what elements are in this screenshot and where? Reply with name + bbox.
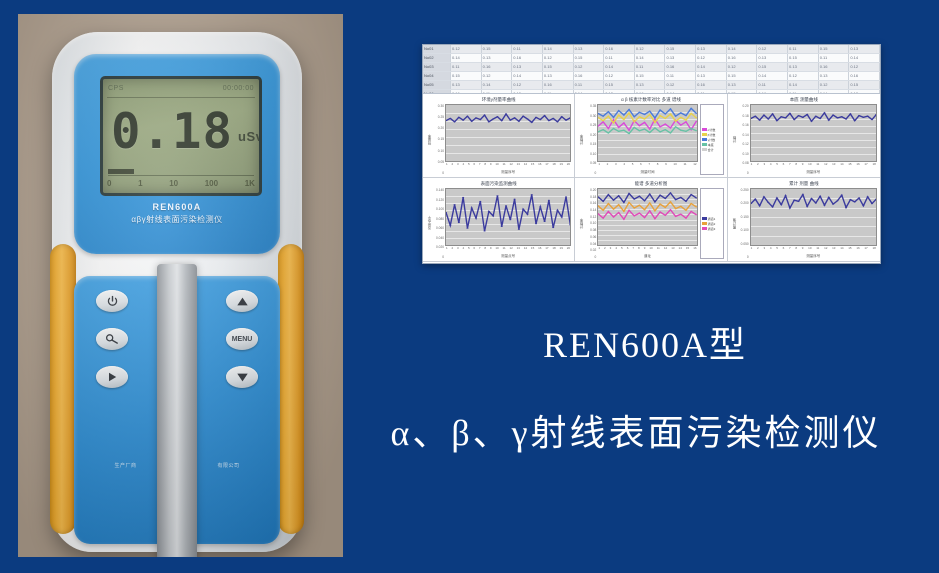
chart-x-ticks: 123456789101112131415161718 xyxy=(750,162,877,169)
chart-data-point xyxy=(644,209,646,210)
chart-data-point xyxy=(639,130,641,131)
chart-y-tick: 0.10 xyxy=(584,152,596,156)
chart-data-point xyxy=(665,113,667,114)
chart-data-point xyxy=(608,116,610,117)
table-cell: 0.16 xyxy=(819,63,850,71)
table-row[interactable]: No020.140.130.160.120.150.110.140.130.12… xyxy=(423,54,880,63)
chart-data-point xyxy=(613,122,615,123)
table-cell: 0.12 xyxy=(696,54,727,62)
chart-plot-area xyxy=(445,188,571,246)
chart-data-point xyxy=(649,129,651,130)
table-cell: 0.12 xyxy=(604,72,635,80)
software-screenshot: No010.120.150.110.140.130.160.120.150.13… xyxy=(422,44,881,264)
menu-button[interactable]: MENU xyxy=(226,328,258,350)
chart-x-tick: 20 xyxy=(567,246,570,253)
chart-data-point xyxy=(771,206,773,207)
up-button[interactable] xyxy=(226,290,258,312)
chart-y-tick: 0 xyxy=(584,171,596,175)
chart-series-line xyxy=(446,195,570,231)
chart-y-axis-label: 累计值 xyxy=(731,188,737,259)
chart-data-point xyxy=(784,195,786,196)
chart-y-tick: 0.050 xyxy=(737,242,749,246)
chart-data-point xyxy=(644,217,646,218)
chart-title: 本底 测量曲线 xyxy=(731,96,877,104)
product-title-line2: α、β、γ射线表面污染检测仪 xyxy=(336,404,936,456)
chart-x-ticks: 123456789101112131415161718 xyxy=(750,246,877,253)
chart-x-tick: 7 xyxy=(632,246,634,253)
chart-y-tick: 0 xyxy=(737,171,749,175)
chart-x-tick: 5 xyxy=(621,246,623,253)
chart-data-point xyxy=(670,108,672,109)
chart-y-tick: 0.060 xyxy=(432,226,444,230)
chart-x-tick: 9 xyxy=(802,246,804,253)
chart-x-tick: 9 xyxy=(644,246,646,253)
chart-data-point xyxy=(771,113,773,114)
chart-data-point xyxy=(608,111,610,112)
chart-y-tick: 0.10 xyxy=(584,221,596,225)
table-cell: 0.13 xyxy=(665,54,696,62)
chart-panel[interactable]: 本底 测量曲线计数0.200.180.160.140.120.100.08012… xyxy=(728,94,880,178)
chart-x-tick: 1 xyxy=(598,162,600,169)
chart-y-tick: 0.10 xyxy=(737,152,749,156)
chart-x-tick: 7 xyxy=(789,162,791,169)
chart-data-point xyxy=(819,118,821,119)
legend-item[interactable]: α计数 xyxy=(702,128,722,132)
chart-series-line xyxy=(598,193,696,203)
lcd-scale-tick: 1 xyxy=(138,179,142,191)
chart-plot-area xyxy=(750,188,877,246)
table-cell: 0.14 xyxy=(696,63,727,71)
chart-data-point xyxy=(845,118,847,119)
chart-x-ticks: 1234567891011121314151617181920 xyxy=(445,162,571,169)
chart-series-line xyxy=(598,202,696,212)
chart-plot-area xyxy=(750,104,877,162)
chart-data-point xyxy=(754,199,756,200)
chart-x-tick: 5 xyxy=(776,162,778,169)
chart-data-point xyxy=(644,129,646,130)
product-photo: CPS 00:00:00 0.18 uSv/h 01101001K xyxy=(18,14,343,557)
chart-x-tick: 18 xyxy=(872,246,875,253)
chart-data-point xyxy=(613,117,615,118)
chart-data-point xyxy=(810,198,812,199)
chart-x-tick: 18 xyxy=(872,162,875,169)
chart-x-tick: 4 xyxy=(462,162,464,169)
chart-y-tick: 0.18 xyxy=(737,114,749,118)
chart-y-tick: 0.05 xyxy=(432,160,444,164)
chart-data-point xyxy=(654,127,656,128)
table-row-label: No01 xyxy=(423,45,451,53)
chart-x-tick: 13 xyxy=(671,246,674,253)
chart-x-tick: 1 xyxy=(446,246,448,253)
chart-data-point xyxy=(675,121,677,122)
device-footer-left: 生产厂商 xyxy=(114,462,136,469)
chart-data-point xyxy=(775,120,777,121)
chart-data-point xyxy=(691,108,693,109)
chart-data-point xyxy=(823,112,825,113)
chart-data-point xyxy=(832,204,834,205)
chart-data-point xyxy=(691,128,693,129)
power-icon xyxy=(106,295,119,308)
menu-button-label: MENU xyxy=(232,336,253,343)
chart-y-tick: 0.16 xyxy=(584,201,596,205)
table-cell: 0.15 xyxy=(665,45,696,53)
table-cell: 0.14 xyxy=(727,45,758,53)
chart-data-point xyxy=(608,132,610,133)
chart-panel-grid: 环境γ剂量率曲线剂量率0.300.250.200.150.100.0501234… xyxy=(423,94,880,262)
chart-legend: α计数β计数γ计数本底合计 xyxy=(700,104,724,175)
chart-data-point xyxy=(479,119,481,120)
chart-plot-area xyxy=(445,104,571,162)
chart-data-point xyxy=(522,116,524,117)
chart-data-point xyxy=(849,113,851,114)
chart-data-point xyxy=(466,228,468,229)
chart-x-tick: 4 xyxy=(462,246,464,253)
chart-data-point xyxy=(613,200,615,201)
chart-x-tick: 8 xyxy=(795,246,797,253)
triangle-up-icon xyxy=(236,296,249,307)
table-cell: 0.12 xyxy=(543,54,574,62)
chart-data-point xyxy=(767,118,769,119)
chart-data-point xyxy=(680,214,682,215)
chart-data-point xyxy=(644,200,646,201)
table-cell: 0.13 xyxy=(512,63,543,71)
chart-x-tick: 5 xyxy=(632,162,634,169)
chart-data-point xyxy=(660,204,662,205)
legend-item[interactable]: γ计数 xyxy=(702,138,722,142)
chart-x-tick: 10 xyxy=(673,162,676,169)
chart-data-point xyxy=(814,116,816,117)
chart-data-point xyxy=(793,200,795,201)
play-button[interactable] xyxy=(96,366,128,388)
chart-panel[interactable]: α β 核素计数率对比 多道 谱线计数率0.350.300.250.200.15… xyxy=(575,94,727,178)
chart-x-tick: 18 xyxy=(552,162,555,169)
table-cell: 0.12 xyxy=(512,81,543,89)
chart-x-tick: 15 xyxy=(531,246,534,253)
lcd-scale-tick: 100 xyxy=(205,179,218,191)
chart-y-tick: 0.08 xyxy=(737,161,749,165)
chart-x-tick: 15 xyxy=(686,246,689,253)
legend-swatch xyxy=(702,227,707,230)
chart-data-point xyxy=(665,124,667,125)
chart-x-tick: 1 xyxy=(598,246,600,253)
device-model-label: REN600A xyxy=(74,202,280,212)
chart-y-tick: 0.25 xyxy=(584,123,596,127)
chart-data-point xyxy=(471,121,473,122)
chart-x-ticks: 123456789101112 xyxy=(597,162,697,169)
table-cell: 0.15 xyxy=(604,81,635,89)
chart-data-point xyxy=(623,119,625,120)
chart-x-tick: 7 xyxy=(789,246,791,253)
table-cell: 0.13 xyxy=(696,45,727,53)
chart-x-tick: 3 xyxy=(763,162,765,169)
chart-y-tick: 0.25 xyxy=(432,115,444,119)
table-cell: 0.13 xyxy=(727,81,758,89)
chart-x-tick: 8 xyxy=(657,162,659,169)
chart-x-tick: 2 xyxy=(451,246,453,253)
slide-background: CPS 00:00:00 0.18 uSv/h 01101001K xyxy=(0,0,939,573)
table-row[interactable]: No040.150.120.140.130.160.120.150.110.13… xyxy=(423,72,880,81)
lcd-reading: 0.18 uSv/h xyxy=(111,101,253,161)
chart-data-point xyxy=(513,199,515,200)
legend-item[interactable]: 通道3 xyxy=(702,227,722,231)
chart-x-tick: 11 xyxy=(816,246,819,253)
table-cell: 0.14 xyxy=(512,72,543,80)
legend-item[interactable]: 合计 xyxy=(702,148,722,152)
chart-x-tick: 11 xyxy=(657,246,660,253)
chart-data-point xyxy=(649,202,651,203)
legend-swatch xyxy=(702,143,707,146)
table-cell: 0.12 xyxy=(727,63,758,71)
chart-data-point xyxy=(871,203,873,204)
chart-data-point xyxy=(565,196,567,197)
chart-x-tick: 8 xyxy=(638,246,640,253)
chart-data-point xyxy=(670,132,672,133)
table-cell: 0.12 xyxy=(819,81,850,89)
chart-data-point xyxy=(526,118,528,119)
chart-y-axis-label: 计数率 xyxy=(578,188,584,259)
table-row-label: No03 xyxy=(423,63,451,71)
chart-y-tick: 0.12 xyxy=(737,142,749,146)
chart-data-point xyxy=(513,117,515,118)
search-button[interactable] xyxy=(96,328,128,350)
table-row[interactable]: No030.110.160.130.150.120.140.110.160.14… xyxy=(423,63,880,72)
chart-x-tick: 11 xyxy=(816,162,819,169)
chart-data-point xyxy=(501,226,503,227)
chart-x-tick: 2 xyxy=(757,246,759,253)
table-cell: 0.16 xyxy=(696,81,727,89)
chart-data-point xyxy=(810,121,812,122)
chart-x-axis-label: 测量序号 xyxy=(750,169,877,175)
table-cell: 0.15 xyxy=(819,45,850,53)
chart-y-ticks: 0.200.180.160.140.120.100.080.060.040.02… xyxy=(584,188,597,259)
triangle-down-icon xyxy=(236,372,249,383)
chart-data-point xyxy=(649,210,651,211)
power-button[interactable] xyxy=(96,290,128,312)
chart-data-point xyxy=(660,195,662,196)
chart-data-point xyxy=(531,194,533,195)
chart-data-point xyxy=(871,119,873,120)
chart-x-tick: 4 xyxy=(615,246,617,253)
chart-x-tick: 14 xyxy=(679,246,682,253)
legend-swatch xyxy=(702,133,707,136)
chart-data-point xyxy=(654,117,656,118)
chart-x-tick: 3 xyxy=(763,246,765,253)
chart-data-point xyxy=(613,216,615,217)
chart-data-point xyxy=(665,198,667,199)
chart-data-point xyxy=(762,115,764,116)
table-cell: 0.11 xyxy=(788,45,819,53)
chart-x-tick: 18 xyxy=(552,246,555,253)
chart-panel[interactable]: 累计 剂量 曲线累计值0.2500.2000.1500.1000.0500123… xyxy=(728,178,880,262)
chart-series-line xyxy=(598,210,696,220)
table-cell: 0.13 xyxy=(757,54,788,62)
chart-data-point xyxy=(613,119,615,120)
lcd-display: CPS 00:00:00 0.18 uSv/h 01101001K xyxy=(100,76,262,196)
table-cell: 0.15 xyxy=(451,72,482,80)
chart-data-point xyxy=(531,122,533,123)
legend-swatch xyxy=(702,222,707,225)
chart-x-tick: 9 xyxy=(802,162,804,169)
table-cell: 0.16 xyxy=(482,63,513,71)
chart-data-point xyxy=(862,205,864,206)
chart-data-point xyxy=(628,210,630,211)
chart-data-point xyxy=(639,205,641,206)
device-chinese-label: αβγ射线表面污染检测仪 xyxy=(74,214,280,225)
chart-data-point xyxy=(634,208,636,209)
chart-x-tick: 17 xyxy=(545,162,548,169)
chart-data-point xyxy=(784,117,786,118)
chart-y-ticks: 0.1400.1200.1000.0800.0600.0400.0200 xyxy=(432,188,445,259)
lcd-scale-tick: 10 xyxy=(169,179,178,191)
table-row[interactable]: No010.120.150.110.140.130.160.120.150.13… xyxy=(423,45,880,54)
chart-x-tick: 12 xyxy=(824,162,827,169)
table-row[interactable]: No050.130.140.120.160.110.150.130.120.16… xyxy=(423,81,880,90)
chart-data-point xyxy=(603,210,605,211)
table-cell: 0.12 xyxy=(788,72,819,80)
chart-x-tick: 16 xyxy=(693,246,696,253)
chart-data-point xyxy=(670,192,672,193)
legend-item[interactable]: β计数 xyxy=(702,133,722,137)
chart-data-point xyxy=(462,120,464,121)
table-cell: 0.11 xyxy=(819,54,850,62)
chart-y-tick: 0.35 xyxy=(584,104,596,108)
lcd-bargraph-axis xyxy=(108,175,254,176)
chart-panel[interactable]: 表面污染监测曲线污染水平0.1400.1200.1000.0800.0600.0… xyxy=(423,178,575,262)
chart-x-tick: 7 xyxy=(648,162,650,169)
play-icon xyxy=(106,371,118,383)
chart-y-tick: 0.250 xyxy=(737,188,749,192)
chart-y-axis-label: 计数率 xyxy=(578,104,584,175)
lcd-divider xyxy=(107,97,255,98)
title-block: REN600A型 α、β、γ射线表面污染检测仪 xyxy=(336,316,936,456)
chart-data-point xyxy=(780,204,782,205)
table-cell: 0.12 xyxy=(482,72,513,80)
table-cell: 0.11 xyxy=(574,81,605,89)
chart-data-point xyxy=(608,203,610,204)
table-cell: 0.16 xyxy=(604,45,635,53)
table-cell: 0.14 xyxy=(788,81,819,89)
chart-data-point xyxy=(496,116,498,117)
legend-label: 合计 xyxy=(708,148,714,152)
table-cell: 0.14 xyxy=(849,54,880,62)
chart-x-tick: 3 xyxy=(615,162,617,169)
chart-data-point xyxy=(691,194,693,195)
chart-data-point xyxy=(670,113,672,114)
chart-x-axis-label: 测量序号 xyxy=(445,169,571,175)
chart-y-tick: 0.20 xyxy=(432,126,444,130)
chart-data-point xyxy=(767,202,769,203)
table-cell: 0.16 xyxy=(849,72,880,80)
chart-x-tick: 17 xyxy=(545,246,548,253)
chart-y-tick: 0.020 xyxy=(432,245,444,249)
chart-data-point xyxy=(680,117,682,118)
chart-series-svg xyxy=(446,189,570,245)
chart-x-tick: 8 xyxy=(484,162,486,169)
chart-data-point xyxy=(556,210,558,211)
chart-data-point xyxy=(608,128,610,129)
chart-x-tick: 16 xyxy=(856,162,859,169)
chart-x-tick: 13 xyxy=(517,162,520,169)
chart-data-point xyxy=(680,125,682,126)
chart-series-line xyxy=(751,113,876,121)
chart-y-tick: 0.20 xyxy=(584,188,596,192)
chart-data-point xyxy=(623,122,625,123)
table-cell: 0.15 xyxy=(482,45,513,53)
chart-data-point xyxy=(556,121,558,122)
chart-series-svg xyxy=(598,189,696,245)
chart-data-point xyxy=(685,115,687,116)
chart-data-point xyxy=(613,209,615,210)
chart-data-point xyxy=(801,194,803,195)
handheld-detector-device: CPS 00:00:00 0.18 uSv/h 01101001K xyxy=(52,32,302,552)
legend-item[interactable]: 本底 xyxy=(702,143,722,147)
chart-data-point xyxy=(685,131,687,132)
chart-data-point xyxy=(483,115,485,116)
legend-label: γ计数 xyxy=(708,138,716,142)
hand-strap xyxy=(157,264,197,557)
chart-plot-area xyxy=(597,104,697,162)
chart-data-point xyxy=(623,219,625,220)
chart-y-tick: 0.18 xyxy=(584,195,596,199)
chart-data-point xyxy=(603,218,605,219)
table-cell: 0.13 xyxy=(696,72,727,80)
chart-x-tick: 5 xyxy=(468,246,470,253)
chart-y-tick: 0.15 xyxy=(584,142,596,146)
chart-x-ticks: 12345678910111213141516 xyxy=(597,246,697,253)
chart-data-point xyxy=(819,196,821,197)
chart-x-tick: 8 xyxy=(795,162,797,169)
chart-x-tick: 16 xyxy=(538,162,541,169)
chart-data-point xyxy=(628,193,630,194)
chart-data-point xyxy=(603,120,605,121)
chart-y-axis-label: 污染水平 xyxy=(426,188,432,259)
chart-data-point xyxy=(644,118,646,119)
chart-data-point xyxy=(685,210,687,211)
chart-data-point xyxy=(466,116,468,117)
chart-y-axis-label: 剂量率 xyxy=(426,104,432,175)
chart-data-point xyxy=(797,115,799,116)
chart-data-point xyxy=(548,200,550,201)
table-cell: 0.15 xyxy=(543,63,574,71)
chart-data-point xyxy=(644,114,646,115)
chart-x-tick: 6 xyxy=(783,246,785,253)
chart-data-point xyxy=(866,196,868,197)
device-branding: REN600A αβγ射线表面污染检测仪 xyxy=(74,202,280,225)
chart-data-point xyxy=(623,115,625,116)
chart-data-point xyxy=(649,194,651,195)
legend-item[interactable]: 通道2 xyxy=(702,222,722,226)
legend-label: 通道2 xyxy=(708,222,716,226)
chart-x-tick: 16 xyxy=(856,246,859,253)
table-cell: 0.15 xyxy=(635,72,666,80)
chart-panel[interactable]: 能谱 多道分析图计数率0.200.180.160.140.120.100.080… xyxy=(575,178,727,262)
chart-panel[interactable]: 环境γ剂量率曲线剂量率0.300.250.200.150.100.0501234… xyxy=(423,94,575,178)
chart-data-point xyxy=(618,127,620,128)
chart-data-point xyxy=(866,116,868,117)
chart-x-tick: 11 xyxy=(503,162,506,169)
down-button[interactable] xyxy=(226,366,258,388)
chart-data-point xyxy=(613,128,615,129)
chart-data-point xyxy=(505,113,507,114)
legend-swatch xyxy=(702,128,707,131)
table-cell: 0.13 xyxy=(788,63,819,71)
chart-y-tick: 0.15 xyxy=(432,137,444,141)
chart-data-point xyxy=(654,201,656,202)
chart-x-axis-label: 测量点号 xyxy=(445,253,571,259)
legend-item[interactable]: 通道1 xyxy=(702,217,722,221)
chart-data-point xyxy=(552,227,554,228)
lcd-scale-tick: 0 xyxy=(107,179,111,191)
